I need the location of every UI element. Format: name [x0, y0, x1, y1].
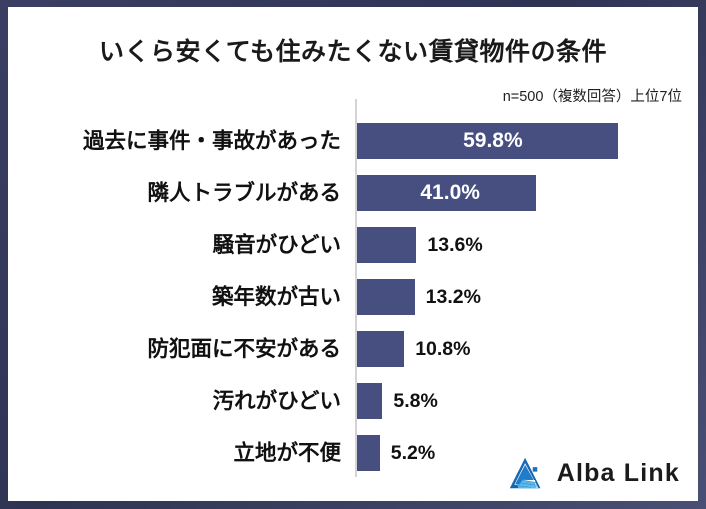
bar[interactable] [357, 435, 380, 471]
alba-link-logo[interactable]: Alba Link [506, 455, 680, 491]
bar-value-label: 41.0% [420, 175, 480, 211]
bar-row: 騒音がひどい13.6% [8, 227, 698, 263]
category-label: 騒音がひどい [213, 227, 350, 263]
bar-value-label: 10.8% [415, 331, 470, 367]
bar-row: 過去に事件・事故があった59.8% [8, 123, 698, 159]
category-label: 過去に事件・事故があった [83, 123, 350, 159]
bar[interactable] [357, 383, 382, 419]
bar[interactable] [357, 331, 404, 367]
triangle-logo-icon [506, 455, 546, 491]
page-title: いくら安くても住みたくない賃貸物件の条件 [8, 32, 698, 68]
category-label: 防犯面に不安がある [147, 331, 350, 367]
category-label: 立地が不便 [233, 435, 350, 471]
bar-value-label: 5.8% [393, 383, 437, 419]
bar-row: 汚れがひどい5.8% [8, 383, 698, 419]
category-label: 汚れがひどい [213, 383, 350, 419]
logo-text: Alba Link [557, 459, 680, 488]
bar-value-label: 13.6% [427, 227, 482, 263]
category-label: 隣人トラブルがある [147, 175, 350, 211]
chart-canvas: いくら安くても住みたくない賃貸物件の条件 n=500（複数回答）上位7位 過去に… [8, 7, 698, 501]
slide-frame: いくら安くても住みたくない賃貸物件の条件 n=500（複数回答）上位7位 過去に… [0, 0, 706, 509]
plot-area: 過去に事件・事故があった59.8%隣人トラブルがある41.0%騒音がひどい13.… [8, 99, 698, 484]
category-label: 築年数が古い [212, 279, 350, 315]
bar-row: 隣人トラブルがある41.0% [8, 175, 698, 211]
bar-value-label: 5.2% [391, 435, 435, 471]
bar[interactable] [357, 227, 416, 263]
bar-value-label: 13.2% [426, 279, 481, 315]
bar-value-label: 59.8% [463, 123, 523, 159]
bar[interactable] [357, 279, 415, 315]
bar-row: 防犯面に不安がある10.8% [8, 331, 698, 367]
bar-row: 築年数が古い13.2% [8, 279, 698, 315]
